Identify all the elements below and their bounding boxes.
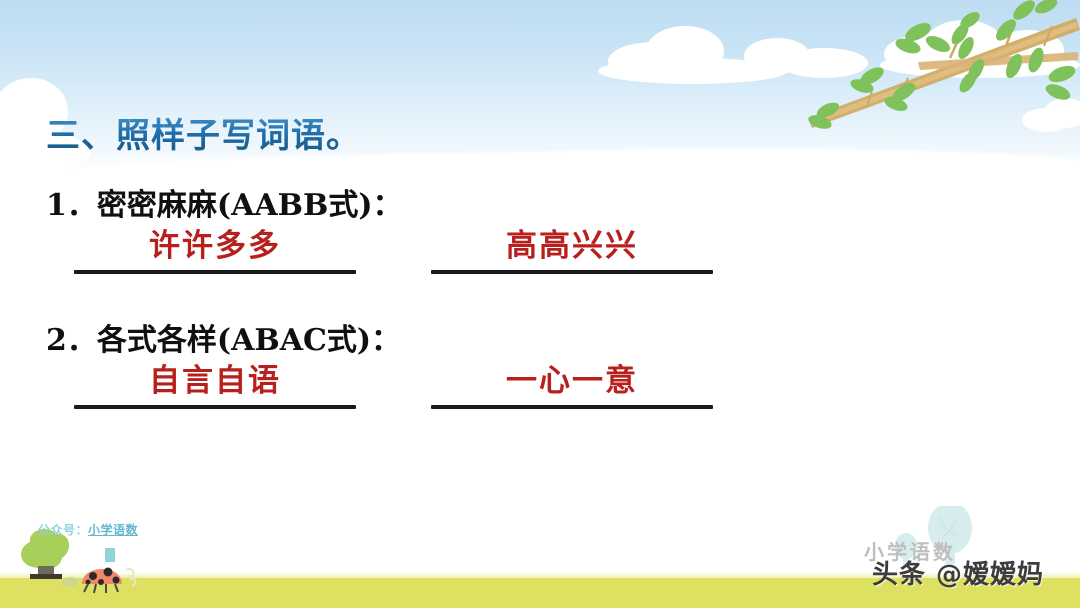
cloud-right bbox=[880, 20, 1080, 76]
answer-word: 自言自语 bbox=[74, 361, 356, 401]
answer-slot-1-2[interactable]: 高高兴兴 bbox=[431, 226, 713, 274]
answer-word: 高高兴兴 bbox=[431, 226, 713, 266]
page-title: 三、照样子写词语。 bbox=[46, 108, 361, 157]
wechat-watermark-name: 小学语数 bbox=[88, 523, 138, 537]
wechat-watermark-label: 公众号： bbox=[38, 523, 88, 537]
answer-word: 许许多多 bbox=[74, 226, 356, 266]
answer-word: 一心一意 bbox=[431, 361, 713, 401]
cloud-small-right bbox=[1022, 98, 1080, 132]
wechat-watermark: 公众号：小学语数 bbox=[38, 521, 138, 538]
exercise-1-prompt: 1．密密麻麻(AABB式)： bbox=[46, 180, 403, 224]
ladybug-icon bbox=[82, 548, 135, 593]
exercise-1-answers: 许许多多 高高兴兴 bbox=[0, 226, 1080, 284]
slide-canvas: 三、照样子写词语。 1．密密麻麻(AABB式)： 许许多多 高高兴兴 2．各式各… bbox=[0, 0, 1080, 608]
answer-underline bbox=[431, 405, 713, 409]
exercise-2-prompt: 2．各式各样(ABAC式)： bbox=[46, 315, 401, 359]
answer-slot-1-1[interactable]: 许许多多 bbox=[74, 226, 356, 274]
pebble-icon bbox=[62, 577, 78, 587]
answer-slot-2-2[interactable]: 一心一意 bbox=[431, 361, 713, 409]
answer-underline bbox=[74, 270, 356, 274]
answer-underline bbox=[74, 405, 356, 409]
cloud-center bbox=[598, 26, 868, 78]
answer-underline bbox=[431, 270, 713, 274]
toutiao-watermark: 头条 @嫒嫒妈 bbox=[872, 554, 1044, 591]
answer-slot-2-1[interactable]: 自言自语 bbox=[74, 361, 356, 409]
exercise-2-answers: 自言自语 一心一意 bbox=[0, 361, 1080, 419]
